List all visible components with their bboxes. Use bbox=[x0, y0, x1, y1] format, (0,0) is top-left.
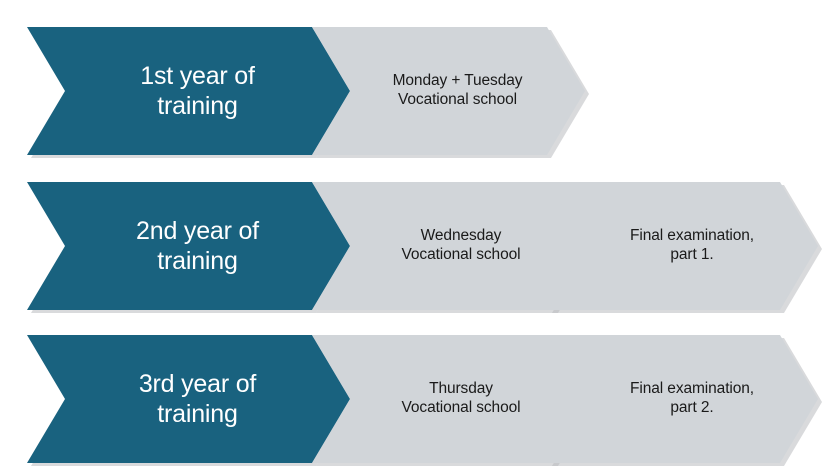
chevron-label: 3rd year of training bbox=[133, 369, 262, 430]
chevron-stage-year-2-school[interactable]: Wednesday Vocational school bbox=[312, 182, 592, 310]
chevron-label: 2nd year of training bbox=[130, 216, 265, 277]
chevron-stage-year-3[interactable]: 3rd year of training bbox=[27, 335, 350, 463]
chevron-stage-year-1[interactable]: 1st year of training bbox=[27, 27, 350, 155]
chevron-label: 1st year of training bbox=[134, 61, 261, 122]
chevron-stage-year-3-exam[interactable]: Final examination, part 2. bbox=[548, 335, 818, 463]
chevron-label: Final examination, part 2. bbox=[624, 380, 760, 418]
chevron-stage-year-2-exam[interactable]: Final examination, part 1. bbox=[548, 182, 818, 310]
chevron-process-diagram: 1st year of trainingMonday + Tuesday Voc… bbox=[0, 0, 830, 473]
chevron-row: 3rd year of trainingThursday Vocational … bbox=[0, 335, 830, 463]
chevron-row: 2nd year of trainingWednesday Vocational… bbox=[0, 182, 830, 310]
chevron-stage-year-2[interactable]: 2nd year of training bbox=[27, 182, 350, 310]
chevron-stage-year-3-school[interactable]: Thursday Vocational school bbox=[312, 335, 592, 463]
chevron-label: Final examination, part 1. bbox=[624, 227, 760, 265]
chevron-stage-year-1-school[interactable]: Monday + Tuesday Vocational school bbox=[312, 27, 585, 155]
chevron-label: Monday + Tuesday Vocational school bbox=[387, 72, 529, 110]
chevron-label: Thursday Vocational school bbox=[396, 380, 527, 418]
chevron-label: Wednesday Vocational school bbox=[396, 227, 527, 265]
chevron-row: 1st year of trainingMonday + Tuesday Voc… bbox=[0, 27, 830, 155]
